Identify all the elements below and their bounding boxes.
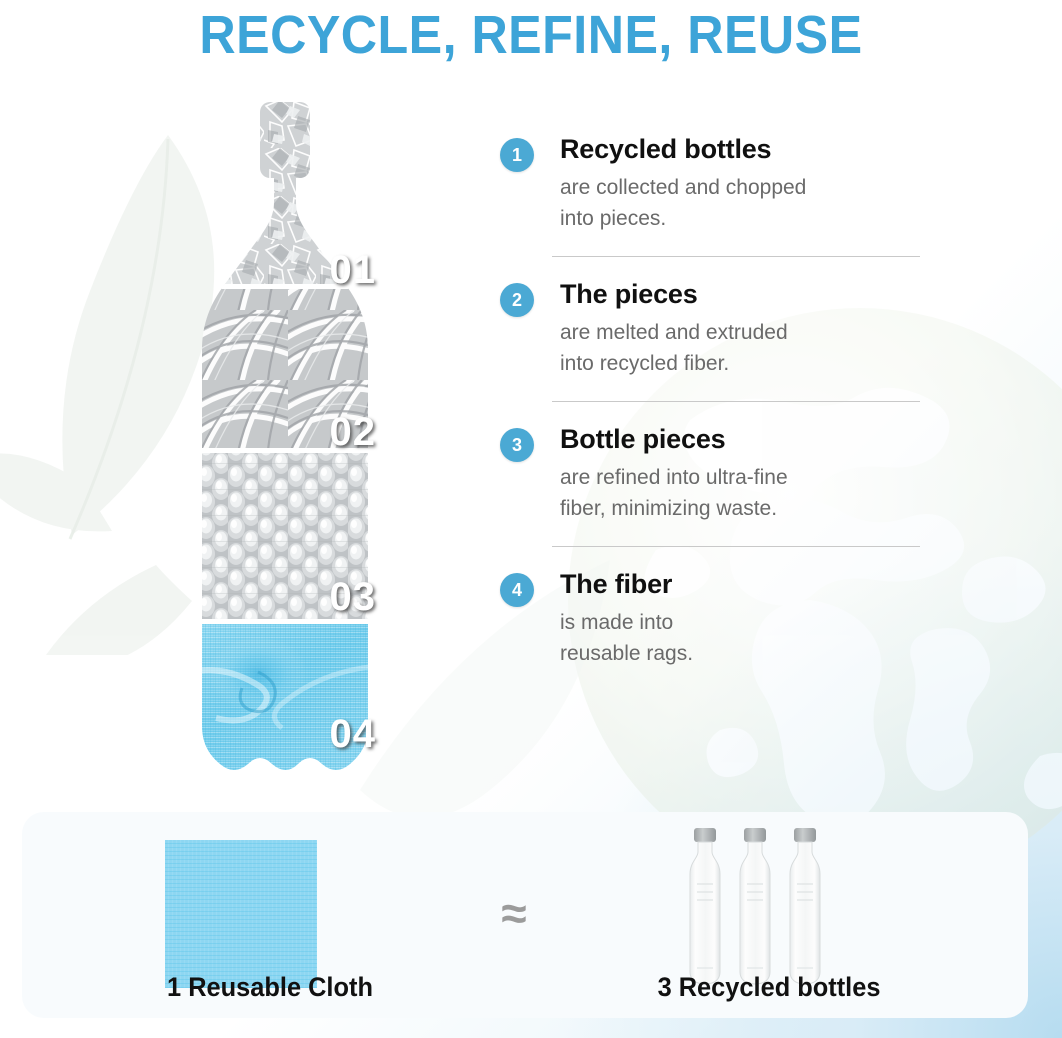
step-item-1: 1 Recycled bottles are collected and cho… (492, 132, 932, 234)
comparison-left-label: 1 Reusable Cloth (120, 972, 421, 1003)
step-item-4: 4 The fiber is made into reusable rags. (492, 567, 932, 669)
step-number-badge-1: 1 (500, 138, 534, 172)
page-title: RECYCLE, REFINE, REUSE (37, 4, 1025, 66)
step-body-line1-3: are refined into ultra-fine (560, 462, 932, 493)
step-title-2: The pieces (560, 277, 932, 311)
three-recycled-bottles-icon (674, 822, 854, 992)
step-title-4: The fiber (560, 567, 932, 601)
step-body-line2-3: fiber, minimizing waste. (560, 493, 932, 524)
approximately-equal-icon: ≈ (484, 890, 544, 936)
comparison-right-label: 3 Recycled bottles (614, 972, 924, 1003)
bottle-band-label-04: 04 (330, 712, 377, 757)
step-divider-2 (552, 401, 920, 402)
comparison-card: ≈ (22, 812, 1028, 1018)
step-divider-1 (552, 256, 920, 257)
bottle-band-label-02: 02 (330, 410, 377, 455)
step-title-3: Bottle pieces (560, 422, 932, 456)
step-number-badge-2: 2 (500, 283, 534, 317)
step-body-line2-1: into pieces. (560, 203, 932, 234)
step-divider-3 (552, 546, 920, 547)
step-body-line2-4: reusable rags. (560, 638, 932, 669)
step-item-3: 3 Bottle pieces are refined into ultra-f… (492, 422, 932, 524)
step-body-line1-4: is made into (560, 607, 932, 638)
step-number-badge-4: 4 (500, 573, 534, 607)
step-body-line2-2: into recycled fiber. (560, 348, 932, 379)
bottle-band-label-01: 01 (330, 248, 377, 293)
step-title-1: Recycled bottles (560, 132, 932, 166)
infographic-root: RECYCLE, REFINE, REUSE (0, 0, 1062, 1038)
step-body-line1-2: are melted and extruded (560, 317, 932, 348)
process-steps-list: 1 Recycled bottles are collected and cho… (492, 132, 932, 692)
recycling-bottle-graphic: 01 02 03 04 (108, 100, 408, 800)
bottle-band-label-03: 03 (330, 575, 377, 620)
step-body-line1-1: are collected and chopped (560, 172, 932, 203)
step-number-badge-3: 3 (500, 428, 534, 462)
reusable-cloth-swatch (165, 840, 317, 988)
step-item-2: 2 The pieces are melted and extruded int… (492, 277, 932, 379)
